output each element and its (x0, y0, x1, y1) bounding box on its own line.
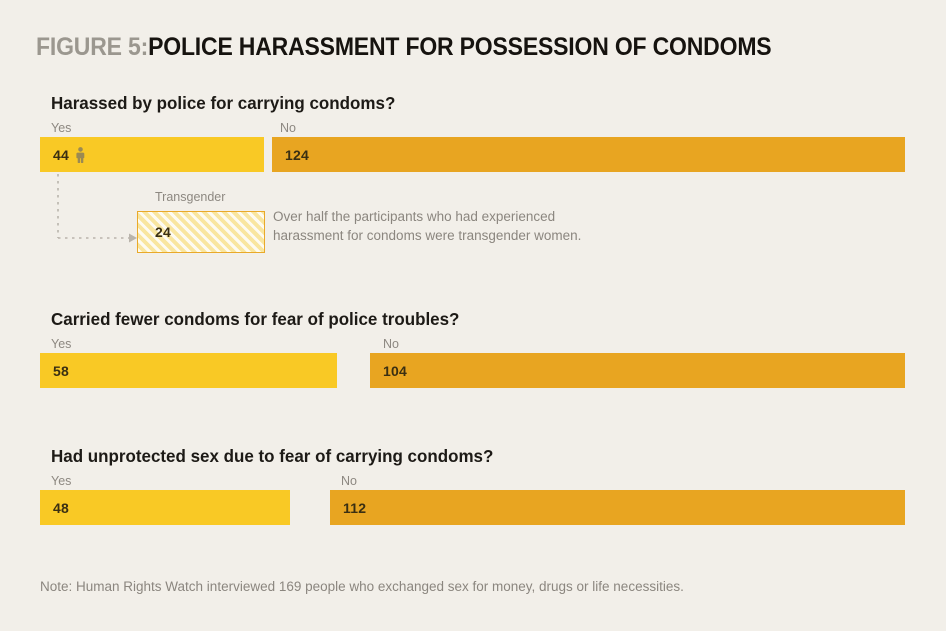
bar-transgender[interactable]: 24 (137, 211, 265, 253)
bar-yes-value: 58 (53, 363, 69, 379)
figure-title: FIGURE 5:POLICE HARASSMENT FOR POSSESSIO… (36, 33, 771, 62)
yes-label: Yes (51, 337, 71, 351)
footer-note: Note: Human Rights Watch interviewed 169… (40, 579, 684, 594)
bar-no-value: 104 (383, 363, 407, 379)
question-label: Carried fewer condoms for fear of police… (51, 309, 459, 330)
bar-no[interactable]: 124 (272, 137, 905, 172)
bar-no-value: 112 (343, 500, 366, 516)
bar-yes[interactable]: 58 (40, 353, 337, 388)
callout-annotation-text: Over half the participants who had exper… (273, 207, 581, 245)
bar-yes-value: 44 (53, 147, 69, 163)
question-label: Harassed by police for carrying condoms? (51, 93, 395, 114)
no-label: No (341, 474, 357, 488)
bar-yes-value-wrap: 44 (53, 147, 85, 163)
bar-transgender-value: 24 (155, 224, 171, 240)
bar-no[interactable]: 112 (330, 490, 905, 525)
yes-label: Yes (51, 121, 71, 135)
figure-canvas: FIGURE 5:POLICE HARASSMENT FOR POSSESSIO… (0, 0, 946, 631)
bar-no[interactable]: 104 (370, 353, 905, 388)
no-label: No (280, 121, 296, 135)
callout-transgender-label: Transgender (155, 190, 225, 204)
person-icon (76, 147, 85, 163)
no-label: No (383, 337, 399, 351)
figure-heading-text: POLICE HARASSMENT FOR POSSESSION OF COND… (148, 33, 771, 61)
figure-number: FIGURE 5: (36, 33, 148, 61)
bar-yes-value: 48 (53, 500, 69, 516)
bar-yes[interactable]: 48 (40, 490, 290, 525)
yes-label: Yes (51, 474, 71, 488)
bar-no-value: 124 (285, 147, 309, 163)
question-label: Had unprotected sex due to fear of carry… (51, 446, 493, 467)
bar-yes[interactable]: 44 (40, 137, 264, 172)
